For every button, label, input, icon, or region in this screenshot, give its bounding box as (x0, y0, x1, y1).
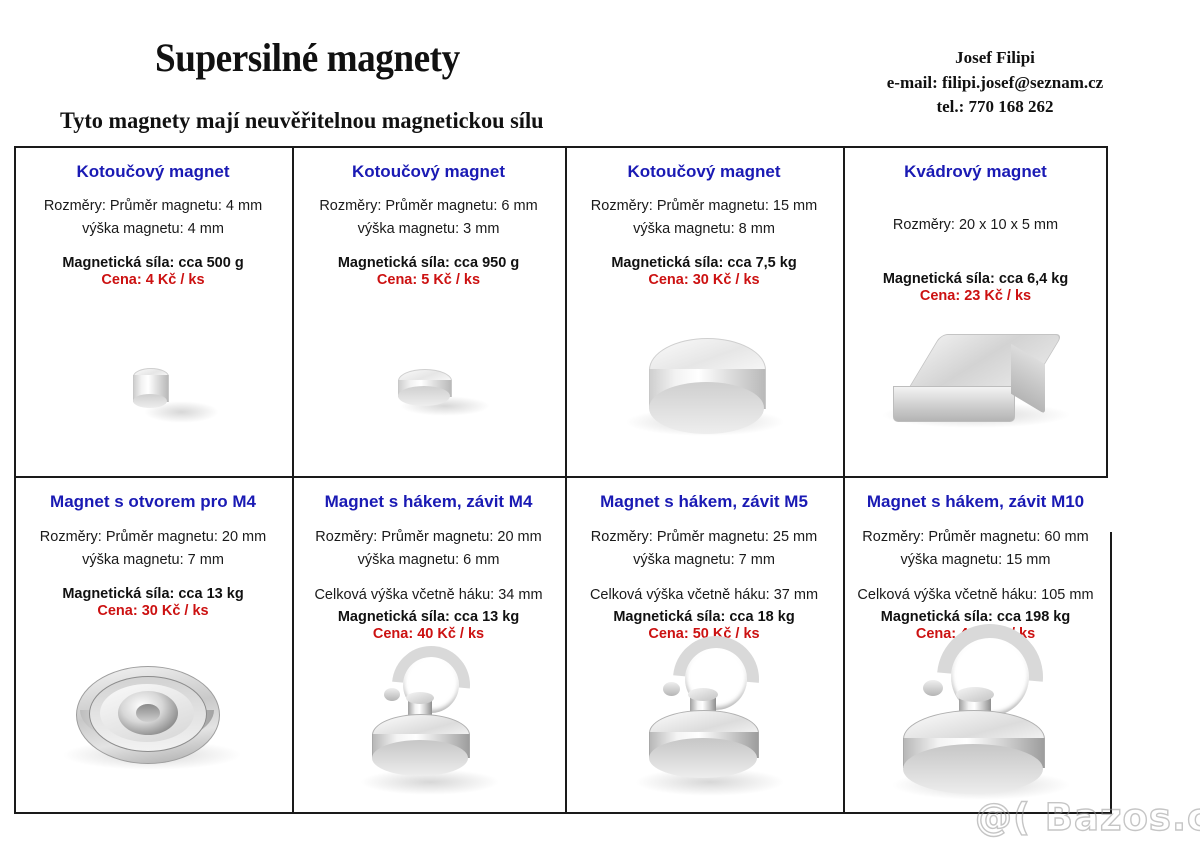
flat-disc-magnet-icon (292, 326, 565, 456)
product-dimensions: Rozměry: 20 x 10 x 5 mm (843, 214, 1108, 237)
small-cylinder-magnet-icon (14, 326, 292, 456)
product-row-1: Kotoučový magnet Rozměry: Průměr magnetu… (14, 146, 1108, 476)
contact-email: e-mail: filipi.josef@seznam.cz (800, 71, 1190, 96)
product-cell-1[interactable]: Kotoučový magnet Rozměry: Průměr magnetu… (14, 146, 292, 476)
product-force: Magnetická síla: cca 18 kg (565, 609, 843, 625)
grid-line-right-row2 (1110, 532, 1112, 814)
product-price: Cena: 4 Kč / ks (14, 272, 292, 288)
product-force: Magnetická síla: cca 500 g (14, 255, 292, 271)
product-cell-8[interactable]: Magnet s hákem, závit M10 Rozměry: Průmě… (843, 476, 1108, 834)
product-cell-5[interactable]: Magnet s otvorem pro M4 Rozměry: Průměr … (14, 476, 292, 834)
dimension-line-3: Celková výška včetně háku: 105 mm (849, 584, 1102, 607)
dimension-line-2: výška magnetu: 8 mm (571, 218, 837, 241)
large-disc-magnet-icon (565, 316, 843, 466)
product-dimensions: Rozměry: Průměr magnetu: 20 mm výška mag… (292, 526, 565, 607)
product-title: Kvádrový magnet (843, 162, 1108, 182)
dimension-line-1: Rozměry: Průměr magnetu: 25 mm (571, 526, 837, 549)
dimension-line-2: výška magnetu: 15 mm (849, 549, 1102, 572)
product-dimensions: Rozměry: Průměr magnetu: 20 mm výška mag… (14, 526, 292, 584)
dimension-line-1: Rozměry: Průměr magnetu: 20 mm (20, 526, 286, 549)
dimension-line-3: Celková výška včetně háku: 34 mm (298, 584, 559, 607)
page-title: Supersilné magnety (155, 34, 460, 81)
product-dimensions: Rozměry: Průměr magnetu: 25 mm výška mag… (565, 526, 843, 607)
product-title: Magnet s otvorem pro M4 (14, 492, 292, 512)
product-grid: Kotoučový magnet Rozměry: Průměr magnetu… (14, 146, 1108, 834)
product-force: Magnetická síla: cca 7,5 kg (565, 255, 843, 271)
dimension-line-1: Rozměry: 20 x 10 x 5 mm (849, 214, 1102, 237)
product-force: Magnetická síla: cca 950 g (292, 255, 565, 271)
product-cell-3[interactable]: Kotoučový magnet Rozměry: Průměr magnetu… (565, 146, 843, 476)
product-cell-2[interactable]: Kotoučový magnet Rozměry: Průměr magnetu… (292, 146, 565, 476)
product-price: Cena: 30 Kč / ks (14, 603, 292, 619)
product-title: Kotoučový magnet (565, 162, 843, 182)
bazos-watermark: @( Bazos.cz (975, 796, 1200, 839)
contact-block: Josef Filipi e-mail: filipi.josef@seznam… (800, 46, 1190, 120)
contact-phone: tel.: 770 168 262 (800, 95, 1190, 120)
product-title: Magnet s hákem, závit M4 (292, 492, 565, 512)
product-row-2: Magnet s otvorem pro M4 Rozměry: Průměr … (14, 476, 1108, 834)
dimension-line-2: výška magnetu: 7 mm (571, 549, 837, 572)
product-dimensions: Rozměry: Průměr magnetu: 15 mm výška mag… (565, 195, 843, 242)
hook-magnet-m5-icon (565, 628, 843, 828)
dimension-line-1: Rozměry: Průměr magnetu: 4 mm (20, 195, 286, 218)
dimension-spacer (571, 573, 837, 584)
hook-magnet-m4-icon (292, 634, 565, 829)
dimension-line-1: Rozměry: Průměr magnetu: 6 mm (298, 195, 559, 218)
dimension-line-1: Rozměry: Průměr magnetu: 15 mm (571, 195, 837, 218)
countersunk-pot-magnet-icon (14, 648, 292, 828)
product-dimensions: Rozměry: Průměr magnetu: 60 mm výška mag… (843, 526, 1108, 607)
contact-name: Josef Filipi (800, 46, 1190, 71)
dimension-line-2: výška magnetu: 6 mm (298, 549, 559, 572)
dimension-line-1: Rozměry: Průměr magnetu: 20 mm (298, 526, 559, 549)
dimension-spacer (849, 573, 1102, 584)
dimension-line-2: výška magnetu: 4 mm (20, 218, 286, 241)
page-subtitle: Tyto magnety mají neuvěřitelnou magnetic… (60, 108, 544, 134)
product-title: Kotoučový magnet (14, 162, 292, 182)
dimension-line-3: Celková výška včetně háku: 37 mm (571, 584, 837, 607)
product-dimensions: Rozměry: Průměr magnetu: 6 mm výška magn… (292, 195, 565, 242)
magnet-price-list-page: Supersilné magnety Tyto magnety mají neu… (0, 0, 1200, 848)
product-title: Magnet s hákem, závit M5 (565, 492, 843, 512)
product-title: Magnet s hákem, závit M10 (843, 492, 1108, 512)
block-magnet-icon (843, 306, 1108, 466)
product-price: Cena: 30 Kč / ks (565, 272, 843, 288)
dimension-line-2: výška magnetu: 3 mm (298, 218, 559, 241)
product-title: Kotoučový magnet (292, 162, 565, 182)
product-cell-6[interactable]: Magnet s hákem, závit M4 Rozměry: Průměr… (292, 476, 565, 834)
dimension-line-2: výška magnetu: 7 mm (20, 549, 286, 572)
product-dimensions: Rozměry: Průměr magnetu: 4 mm výška magn… (14, 195, 292, 242)
product-force: Magnetická síla: cca 13 kg (14, 586, 292, 602)
dimension-spacer (298, 573, 559, 584)
product-force: Magnetická síla: cca 13 kg (292, 609, 565, 625)
dimension-spacer (20, 573, 286, 584)
product-force: Magnetická síla: cca 6,4 kg (843, 271, 1108, 287)
product-cell-7[interactable]: Magnet s hákem, závit M5 Rozměry: Průměr… (565, 476, 843, 834)
dimension-line-1: Rozměry: Průměr magnetu: 60 mm (849, 526, 1102, 549)
product-cell-4[interactable]: Kvádrový magnet Rozměry: 20 x 10 x 5 mm … (843, 146, 1108, 476)
page-header: Supersilné magnety Tyto magnety mají neu… (0, 0, 1200, 144)
product-price: Cena: 23 Kč / ks (843, 288, 1108, 304)
product-price: Cena: 5 Kč / ks (292, 272, 565, 288)
